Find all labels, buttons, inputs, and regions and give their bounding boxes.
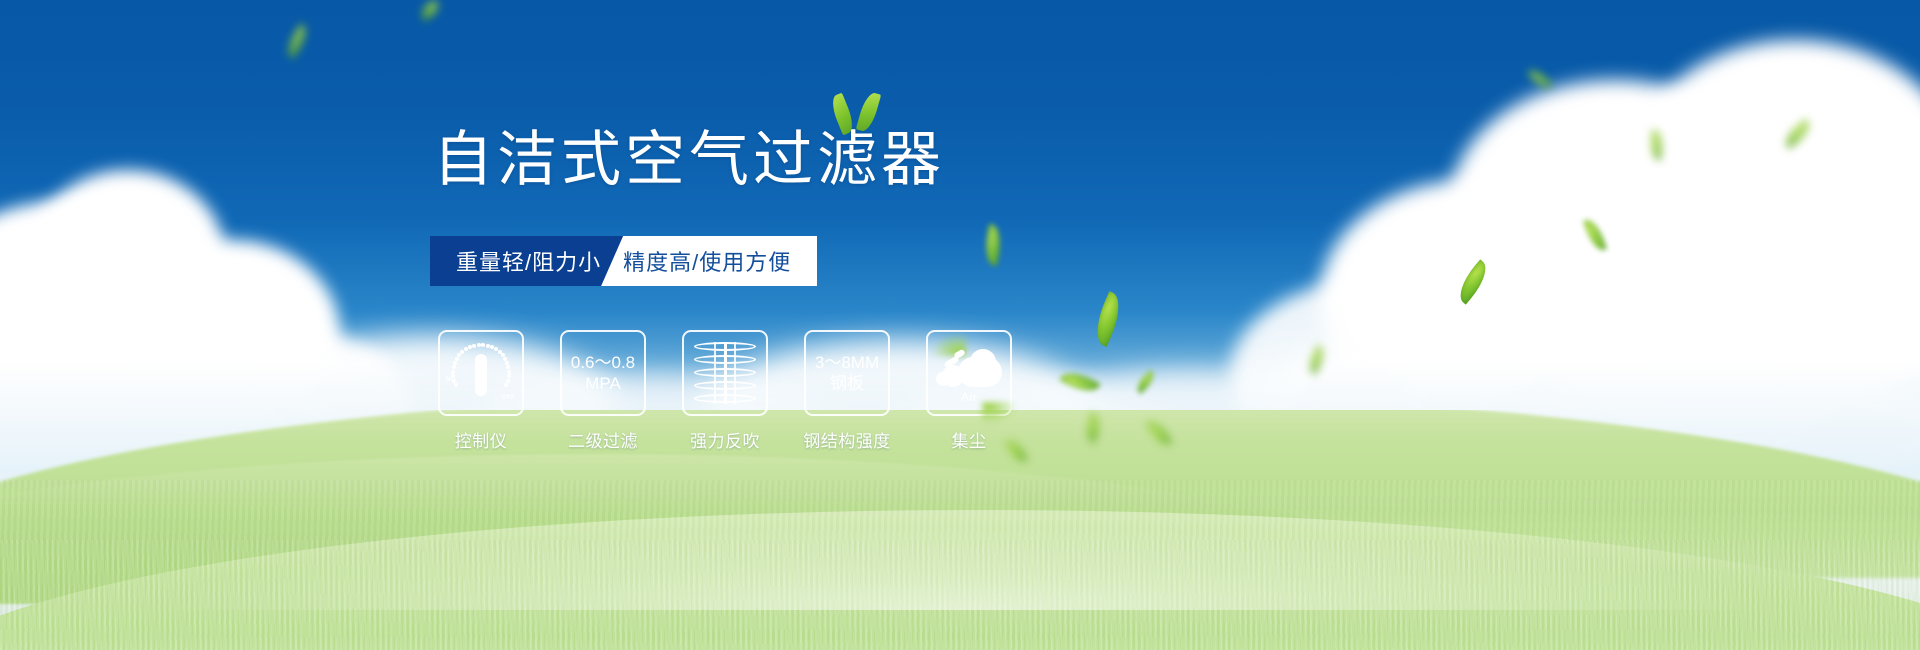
feature-icon-box bbox=[682, 330, 768, 416]
feature-item-blowback[interactable]: 强力反吹 bbox=[682, 330, 768, 452]
feature-label: 集尘 bbox=[952, 427, 987, 452]
feature-label: 控制仪 bbox=[455, 427, 508, 452]
tab-precision-usage[interactable]: 精度高/使用方便 bbox=[601, 236, 817, 286]
feature-item-controller[interactable]: NO OFF 控制仪 bbox=[438, 330, 524, 452]
feature-label: 二级过滤 bbox=[568, 427, 638, 452]
pressure-text-icon: 0.6〜0.8 MPA bbox=[571, 352, 635, 395]
grass-highlight bbox=[0, 490, 1920, 610]
feature-item-secondary-filter[interactable]: 0.6〜0.8 MPA 二级过滤 bbox=[560, 330, 646, 452]
feature-icon-box: NO OFF bbox=[438, 330, 524, 416]
feature-label: 强力反吹 bbox=[690, 427, 760, 452]
feature-item-steel-strength[interactable]: 3〜8MM 钢板 钢结构强度 bbox=[804, 330, 890, 452]
steel-plate-text-icon: 3〜8MM 钢板 bbox=[815, 352, 879, 395]
feature-icon-box: 0.6〜0.8 MPA bbox=[560, 330, 646, 416]
feature-tagline-tabs: 重量轻/阻力小 精度高/使用方便 bbox=[430, 236, 817, 286]
tab-weight-resistance[interactable]: 重量轻/阻力小 bbox=[430, 236, 623, 286]
coil-filter-icon bbox=[694, 340, 756, 406]
air-cloud-icon: Air bbox=[936, 345, 1002, 401]
hero-banner: 自洁式空气过滤器 重量轻/阻力小 精度高/使用方便 NO OFF 控制仪 0.6… bbox=[0, 0, 1920, 650]
steel-thickness: 3〜8MM bbox=[815, 352, 879, 373]
feature-icon-box: 3〜8MM 钢板 bbox=[804, 330, 890, 416]
gauge-off-label: OFF bbox=[502, 395, 515, 401]
pressure-unit: MPA bbox=[571, 373, 635, 394]
feature-icon-box: Air bbox=[926, 330, 1012, 416]
leaf-icon bbox=[282, 23, 313, 59]
air-label: Air bbox=[936, 390, 1002, 404]
feature-icon-row: NO OFF 控制仪 0.6〜0.8 MPA 二级过滤 bbox=[438, 330, 1012, 452]
gauge-dial-icon: NO OFF bbox=[445, 337, 517, 409]
page-title: 自洁式空气过滤器 bbox=[433, 128, 945, 191]
leaf-icon bbox=[418, 0, 442, 21]
steel-material: 钢板 bbox=[815, 373, 879, 394]
feature-item-dust-collection[interactable]: Air 集尘 bbox=[926, 330, 1012, 452]
sprout-leaf-icon bbox=[831, 90, 885, 136]
leaf-icon bbox=[981, 224, 1005, 266]
feature-label: 钢结构强度 bbox=[803, 427, 891, 452]
title-block: 自洁式空气过滤器 bbox=[433, 128, 945, 191]
pressure-value: 0.6〜0.8 bbox=[571, 352, 635, 373]
